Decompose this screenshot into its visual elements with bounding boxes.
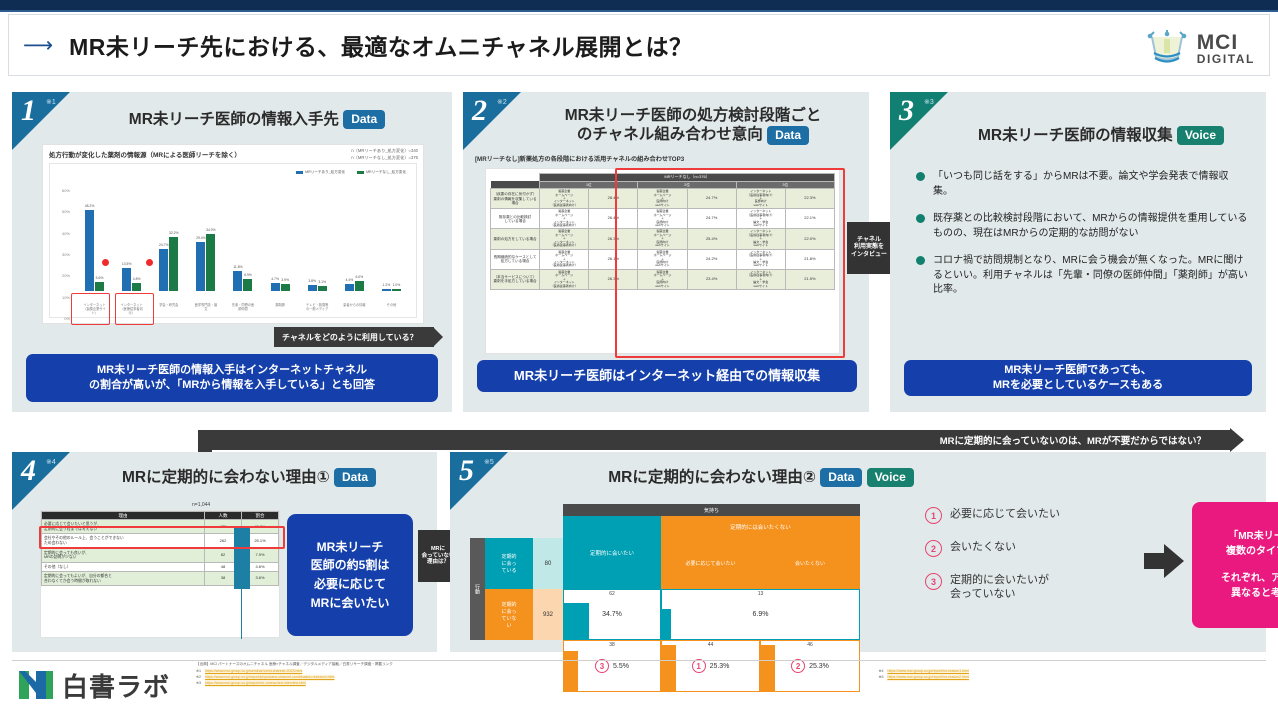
bar-value: 3.1%: [318, 280, 326, 284]
bullet-text: コロナ禍で訪問規制となり、MRに会う機会が無くなった。MRに聞けるといい。利用チ…: [933, 254, 1248, 298]
bar-group: 4.7%3.9%: [271, 190, 290, 291]
crosstab-row1-label: 定期的 に会っ ている: [485, 538, 533, 589]
x-tick: 学会・研究会: [157, 303, 181, 315]
bar-group: 4.4%6.0%: [345, 190, 364, 291]
panel-2[interactable]: 2 ※2 MR未リーチ医師の処方検討段階ごと のチャネル組み合わせ意向 Data…: [463, 92, 869, 412]
bar: 1.2%: [382, 289, 391, 291]
x-tick: 薬剤師: [268, 303, 292, 315]
crosstab-row2-label: 定期的 に会っ ていな い: [485, 589, 533, 640]
panel-4-number: 4: [21, 454, 36, 488]
x-tick: 医学専門誌・論文: [194, 303, 218, 315]
bar-group: 3.8%3.1%: [308, 190, 327, 291]
footnote-row: ※3https://www.mci-group.co.jp/report/mr-…: [196, 681, 334, 687]
list-item-label2: 会っていない: [950, 587, 1049, 601]
footnote-key: ※3: [196, 681, 201, 687]
panel-2-number: 2: [472, 94, 487, 128]
panel-1-note: ※1: [46, 98, 56, 106]
panel-2-caption: MR未リーチ医師はインターネット経由での情報収集: [477, 360, 857, 392]
chart-highlight-box-2: [115, 293, 154, 325]
badge-data: Data: [334, 468, 376, 487]
bar: 24.7%: [159, 249, 168, 291]
bar: 4.8%: [132, 283, 141, 291]
badge-data: Data: [767, 126, 809, 145]
bar-value: 3.8%: [308, 279, 316, 283]
bar-value: 11.8%: [233, 265, 242, 269]
panel-4-callout-line2: 医師の約5割は: [311, 556, 390, 575]
bar-value: 1.2%: [383, 283, 391, 287]
panel-3-caption-line1: MR未リーチ医師であっても、: [1004, 363, 1152, 378]
bar-value: 6.0%: [355, 275, 363, 279]
panel-2-title-line1: MR未リーチ医師の処方検討段階ごと: [523, 106, 863, 125]
m-mark-icon: [16, 665, 56, 705]
table-cell: 製薬企業ホームページ＋インターネット（医療従事者向け）: [540, 189, 589, 209]
panel-4-table-n: n=1,044: [192, 502, 210, 508]
bar: 13.5%: [122, 268, 131, 291]
slide-header: ⟶ MR未リーチ先における、最適なオムニチャネル展開とは？ MCI DIGITA…: [8, 14, 1270, 76]
chart-note-1: n（MRリーチあり_処方変化）=340: [351, 148, 418, 154]
x-tick: テレビ・新聞等の一般メディア: [305, 303, 329, 315]
list-item-label: 必要に応じて会いたい: [950, 508, 1060, 520]
bar-value: 4.4%: [345, 278, 353, 282]
list-item-label: 会いたくない: [950, 541, 1016, 553]
y-tick: 20%: [52, 273, 70, 278]
mci-digital-logo: MCI DIGITAL: [1144, 27, 1255, 69]
list-item-label: 定期的に会いたいが: [950, 573, 1049, 587]
chart-note-2: n（MRリーチなし_処方変化）=376: [351, 155, 418, 161]
row-label: 長期継続的なケースとして処方している場合: [491, 249, 540, 269]
table-header: 人数: [205, 512, 242, 520]
bullet-dot-icon: [916, 214, 925, 223]
pink-line3: それぞれ、アプローチが: [1221, 571, 1278, 586]
panel-4-callout-line1: MR未リーチ: [317, 538, 384, 557]
table-header: 割合: [242, 512, 279, 520]
panel-3-caption: MR未リーチ医師であっても、 MRを必要としているケースもある: [904, 360, 1252, 396]
panel-1-caption-line2: の割合が高いが、「MRから情報を入手している」とも回答: [89, 378, 375, 393]
crosstab-col-teal: 定期的に会いたい: [563, 516, 661, 589]
panel-5-title-text: MRに定期的に会わない理由②: [608, 469, 816, 486]
bar-group: 29.4%34.0%: [196, 190, 215, 291]
arrow-reason-line1: MRに: [431, 546, 445, 553]
logo-main-text: MCI: [1197, 32, 1255, 53]
footnote-link[interactable]: https://www.mci-group.co.jp/report/mr-re…: [887, 675, 969, 681]
chart-red-marker-2: [146, 259, 153, 266]
row-label: 既存薬との比較検討している場合: [491, 209, 540, 229]
list-item: 「いつも同じ話をする」からMRは不要。論文や学会発表で情報収集。: [916, 170, 1248, 199]
page-title: MR未リーチ先における、最適なオムニチャネル展開とは？: [69, 28, 692, 62]
panel-1-caption: MR未リーチ医師の情報入手はインターネットチャネル の割合が高いが、「MRから情…: [26, 354, 438, 402]
hakusho-labo-logo: 白書ラボ: [16, 665, 170, 705]
table-cell: 製薬企業ホームページ＋インターネット（医療従事者向け）: [540, 229, 589, 249]
arrow-right-icon: [1144, 544, 1184, 578]
bar-value: 6.9%: [244, 273, 252, 277]
bullet-text: 既存薬との比較検討段階において、MRからの情報提供を重用しているものの、現在はM…: [933, 212, 1248, 241]
table-cell: 13 6.9%: [661, 589, 860, 640]
table-cell: 製薬企業ホームページ＋インターネット（医療従事者向け）: [540, 209, 589, 229]
chart-bars: 48.2%5.6%13.5%4.8%24.7%32.2%29.4%34.0%11…: [76, 190, 410, 291]
bar-group: 11.8%6.9%: [233, 190, 252, 291]
bar-group: 1.2%1.0%: [382, 190, 401, 291]
bar-value: 4.7%: [271, 277, 279, 281]
crosstab-col-orange-1: 必要に応じて会いたい: [661, 538, 760, 589]
table-cell-reason: 定期的に会ってもよいが、自分の都合と合わなくてか会う時間が取れない: [42, 572, 205, 586]
table-cell: 製薬企業ホームページ＋インターネット（医療従事者向け）: [540, 269, 589, 289]
panel-4-callout: MR未リーチ 医師の約5割は 必要に応じて MRに会いたい: [287, 514, 413, 636]
footer-notes-left: ※1https://www.mci-group.co.jp/seminar/om…: [196, 669, 334, 687]
panel-5-crosstab: 行動 定期的 に会っ ている 80 定期的 に会っ ていな い 932 気持ち …: [470, 504, 860, 640]
footer-notes-right: ※4https://www.mci-group.co.jp/report/mr-…: [878, 669, 969, 687]
footer-notes: 【出典】MCI パートナーズのオムニチャネル 医療×チャネル調査／デジタルメディ…: [196, 662, 1266, 687]
bar: 4.7%: [271, 283, 280, 291]
crosstab-row-axis-label: 行動: [470, 538, 485, 640]
rank-badge-2: 2: [925, 540, 942, 557]
bar: 34.0%: [206, 234, 215, 291]
top-bar-blue: [0, 10, 1278, 12]
y-tick: 10%: [52, 295, 70, 300]
arrow-interview-line2: 利用実態を: [854, 244, 884, 252]
y-tick: 30%: [52, 252, 70, 257]
arrow-interview-line3: インタビュー: [851, 252, 887, 260]
panel-1-chart-card: 処方行動が変化した薬剤の情報源（MRによる医師リーチを除く） n（MRリーチあり…: [42, 144, 424, 324]
panel-3-title: MR未リーチ医師の情報収集 Voice: [946, 126, 1256, 145]
panel-5-note: ※5: [484, 458, 494, 466]
panel-3-bullets: 「いつも同じ話をする」からMRは不要。論文や学会発表で情報収集。 既存薬との比較…: [916, 170, 1248, 311]
x-tick: 患者からの情報: [342, 303, 366, 315]
panel-5-pink-callout: 「MR未リーチ」には 複数のタイプが存在。 それぞれ、アプローチが 異なると考え…: [1192, 502, 1278, 628]
row-label: 薬剤の処方をしている場合: [491, 229, 540, 249]
bar-value: 5.6%: [96, 276, 104, 280]
list-item: 2 会いたくない: [925, 540, 1135, 557]
panel-4-note: ※4: [46, 458, 56, 466]
pink-line4: 異なると考えられる: [1231, 586, 1278, 601]
panel-3-note: ※3: [924, 98, 934, 106]
rank-badge-1: 1: [925, 507, 942, 524]
table-cell-reason: 定期的に会っても良いが、MRの訪問が少ない: [42, 548, 205, 562]
panel-2-title: MR未リーチ医師の処方検討段階ごと のチャネル組み合わせ意向 Data: [523, 106, 863, 145]
bar: 3.8%: [308, 285, 317, 291]
legend-item-1: MRリーチなし_処方変化: [357, 170, 406, 175]
x-tick: その他: [379, 303, 403, 315]
panel-3-number: 3: [899, 94, 914, 128]
bar-group: 13.5%4.8%: [122, 190, 141, 291]
panel-2-subtitle: [MRリーチなし]新薬処方の各段階における活用チャネルの組み合わせTOP3: [475, 154, 859, 163]
y-tick: 60%: [52, 188, 70, 193]
list-item: コロナ禍で訪問規制となり、MRに会う機会が無くなった。MRに聞けるといい。利用チ…: [916, 254, 1248, 298]
legend-item-0: MRリーチあり_処方変化: [296, 170, 345, 175]
bar-value: 13.5%: [122, 262, 132, 266]
panel-4-title: MRに定期的に会わない理由① Data: [74, 468, 424, 487]
crosstab-col-orange-2: 会いたくない: [760, 538, 860, 589]
bar: 32.2%: [169, 237, 178, 291]
bullet-text: 「いつも同じ話をする」からMRは不要。論文や学会発表で情報収集。: [933, 170, 1248, 199]
bar: 3.9%: [281, 284, 290, 291]
arrow-right-icon: ⟶: [23, 35, 53, 56]
y-tick: 0%: [52, 316, 70, 321]
panel-2-note: ※2: [497, 98, 507, 106]
bar-group: 48.2%5.6%: [85, 190, 104, 291]
panel-3-caption-line2: MRを必要としているケースもある: [993, 378, 1163, 393]
bullet-dot-icon: [916, 172, 925, 181]
badge-voice: Voice: [1177, 126, 1224, 145]
footer-divider: [12, 660, 1266, 661]
bar: 11.8%: [233, 271, 242, 291]
bar-value: 48.2%: [85, 204, 95, 208]
footnote-link[interactable]: https://www.mci-group.co.jp/report/mr-un…: [205, 681, 306, 687]
panel-1-caption-line1: MR未リーチ医師の情報入手はインターネットチャネル: [97, 363, 367, 378]
badge-voice: Voice: [867, 468, 914, 487]
panel-1-title-text: MR未リーチ医師の情報入手先: [129, 111, 339, 128]
x-tick: 先輩・同僚の医師仲間: [231, 303, 255, 315]
table-header: 理由: [42, 512, 205, 520]
crosstab-top-header: 気持ち: [563, 504, 860, 516]
footnote-key: ※5: [878, 675, 883, 681]
logo-sub-text: DIGITAL: [1197, 53, 1255, 65]
bar: 48.2%: [85, 210, 94, 291]
chart-red-marker-1: [102, 259, 109, 266]
bar-value: 24.7%: [159, 243, 169, 247]
bar: 6.0%: [355, 281, 364, 291]
bar-value: 32.2%: [169, 231, 179, 235]
row-label: （本当サービスについて）薬剤を手処方している場合: [491, 269, 540, 289]
panel-4-highlight-box: [39, 526, 285, 549]
bar-group: 24.7%32.2%: [159, 190, 178, 291]
panel-3-title-text: MR未リーチ医師の情報収集: [978, 127, 1173, 144]
crosstab-col-orange-group: 定期的には会いたくない: [661, 516, 860, 538]
chart-heading: 処方行動が変化した薬剤の情報源（MRによる医師リーチを除く）: [49, 149, 289, 159]
panel-1-callout: チャネルをどのように利用している？: [274, 327, 434, 347]
panel-4[interactable]: 4 ※4 MRに定期的に会わない理由① Data n=1,044 理由人数割合必…: [12, 452, 437, 652]
panel-4-callout-line4: MRに会いたい: [311, 594, 390, 613]
bar-value: 34.0%: [206, 228, 216, 232]
panel-5[interactable]: 5 ※5 MRに定期的に会わない理由② Data Voice 行動 定期的 に会…: [450, 452, 1266, 652]
pink-line1: 「MR未リーチ」には: [1228, 529, 1278, 544]
bar: 5.6%: [95, 282, 104, 291]
footer-logo-text: 白書ラボ: [62, 667, 170, 704]
panel-1[interactable]: 1 ※1 MR未リーチ医師の情報入手先 Data 処方行動が変化した薬剤の情報源…: [12, 92, 452, 412]
panel-2-title-line2: のチャネル組み合わせ意向: [577, 126, 763, 143]
row-label: （疾患の存在に気付かず）薬剤の情報を収集している場合: [491, 189, 540, 209]
list-item: 既存薬との比較検討段階において、MRからの情報提供を重用しているものの、現在はM…: [916, 212, 1248, 241]
badge-data: Data: [343, 110, 385, 129]
panel-1-title: MR未リーチ医師の情報入手先 Data: [82, 110, 432, 129]
slide-root: ⟶ MR未リーチ先における、最適なオムニチャネル展開とは？ MCI DIGITA…: [0, 0, 1278, 720]
bar-value: 1.0%: [393, 283, 401, 287]
table-cell-reason: その他（なし）: [42, 562, 205, 572]
panel-5-number: 5: [459, 454, 474, 488]
bar: 1.0%: [392, 289, 401, 291]
bar: 3.1%: [318, 286, 327, 291]
bar-value: 29.4%: [196, 236, 206, 240]
y-tick: 50%: [52, 209, 70, 214]
bar: 29.4%: [196, 242, 205, 291]
panel-4-callout-line3: 必要に応じて: [314, 575, 386, 594]
crosstab-row2-n: 932: [533, 589, 563, 640]
crown-icon: [1144, 27, 1190, 69]
top-bar-navy: [0, 0, 1278, 10]
badge-data: Data: [820, 468, 862, 487]
banner-question: MRに定期的に会っていないのは、MRが不要だからではない？: [198, 430, 1230, 450]
table-cell: 製薬企業ホームページ＋インターネット（医療従事者向け）: [540, 249, 589, 269]
pink-line2: 複数のタイプが存在。: [1226, 544, 1278, 559]
crosstab-row1-n: 80: [533, 538, 563, 589]
list-item: 3 定期的に会いたいが 会っていない: [925, 573, 1135, 602]
list-item: 1 必要に応じて会いたい: [925, 507, 1135, 524]
chart-legend: MRリーチあり_処方変化 MRリーチなし_処方変化: [296, 170, 406, 175]
panel-1-number: 1: [21, 94, 36, 128]
bullet-dot-icon: [916, 256, 925, 265]
footnote-row: ※5https://www.mci-group.co.jp/report/mr-…: [878, 675, 969, 681]
bar: 4.4%: [345, 284, 354, 291]
rank-badge-3: 3: [925, 573, 942, 590]
panel-3[interactable]: 3 ※3 MR未リーチ医師の情報収集 Voice 「いつも同じ話をする」からMR…: [890, 92, 1266, 412]
chart-highlight-box-1: [71, 293, 110, 325]
arrow-interview: チャネル 利用実態を インタビュー: [847, 222, 891, 274]
bar-value: 3.9%: [281, 278, 289, 282]
panel-4-title-text: MRに定期的に会わない理由①: [122, 469, 330, 486]
panel-5-numbered-list: 1 必要に応じて会いたい 2 会いたくない 3 定期的に会いたいが 会っていない: [925, 507, 1135, 618]
table-cell: 62 34.7%: [563, 589, 661, 640]
bar-value: 4.8%: [133, 277, 141, 281]
footer-note-heading: 【出典】MCI パートナーズのオムニチャネル 医療×チャネル調査／デジタルメディ…: [196, 662, 1266, 667]
arrow-reason-line3: 理由は？: [427, 559, 449, 566]
panel-2-highlight-box: [615, 168, 845, 358]
y-tick: 40%: [52, 231, 70, 236]
bar: 6.9%: [243, 279, 252, 291]
panel-5-title: MRに定期的に会わない理由② Data Voice: [516, 468, 1006, 487]
